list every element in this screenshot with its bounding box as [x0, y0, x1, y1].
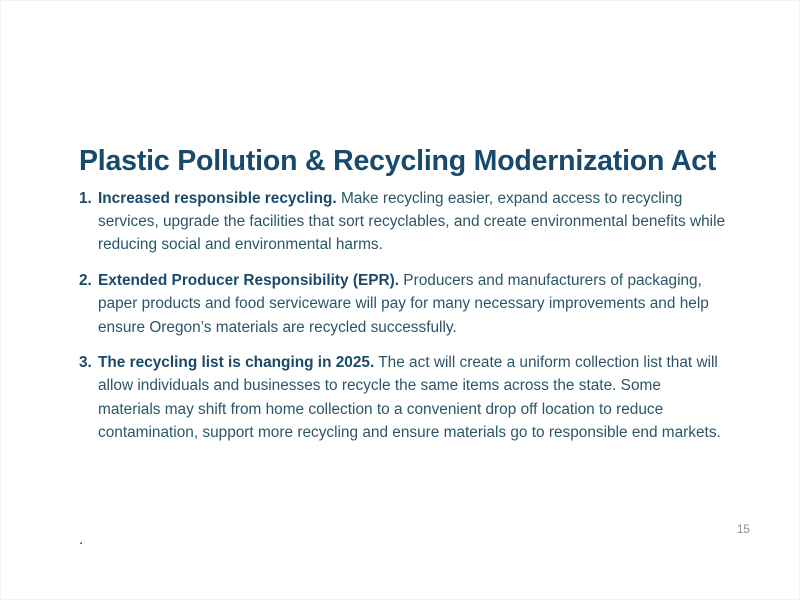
list-item: 1.Increased responsible recycling. Make … — [79, 187, 727, 257]
list-item-number: 3. — [79, 351, 92, 374]
list-item: 3.The recycling list is changing in 2025… — [79, 351, 727, 444]
list-item-number: 1. — [79, 187, 92, 210]
slide-title: Plastic Pollution & Recycling Modernizat… — [79, 146, 759, 178]
presentation-slide: Plastic Pollution & Recycling Modernizat… — [0, 0, 800, 600]
trailing-period-mark: . — [79, 528, 83, 551]
list-item-number: 2. — [79, 269, 92, 292]
numbered-list: 1.Increased responsible recycling. Make … — [79, 187, 727, 444]
list-item-lead: Increased responsible recycling. — [98, 190, 337, 207]
list-item: 2.Extended Producer Responsibility (EPR)… — [79, 269, 727, 339]
slide-page-number: 15 — [737, 523, 777, 537]
list-item-lead: The recycling list is changing in 2025. — [98, 354, 374, 371]
list-item-lead: Extended Producer Responsibility (EPR). — [98, 272, 399, 289]
